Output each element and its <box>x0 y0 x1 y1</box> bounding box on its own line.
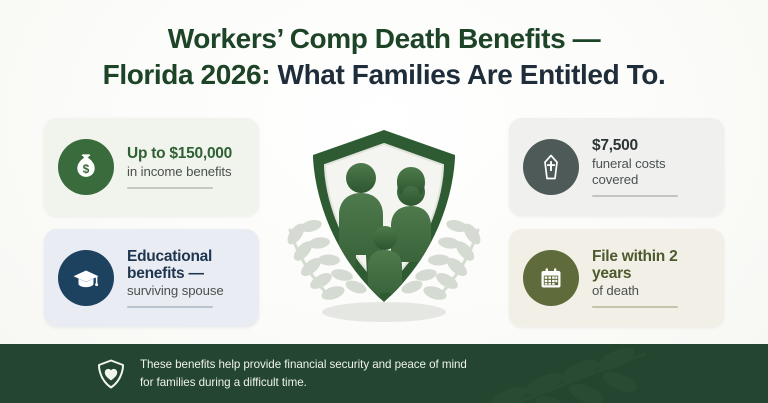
card-text-block: Up to $150,000 in income benefits <box>127 145 247 188</box>
emblem-shadow <box>322 302 446 322</box>
footer-message-line-2: for families during a difficult time. <box>140 374 467 391</box>
card-subtext: funeral costs covered <box>592 156 712 188</box>
footer-bar: These benefits help provide financial se… <box>0 344 768 403</box>
card-text-block: File within 2 years of death <box>592 248 712 309</box>
card-divider <box>592 195 678 197</box>
title-location-year: Florida 2026: <box>103 59 271 90</box>
money-bag-icon: $ <box>58 139 114 195</box>
footer-message-line-1: These benefits help provide financial se… <box>140 356 467 373</box>
benefit-card-income[interactable]: $ Up to $150,000 in income benefits <box>44 118 259 216</box>
card-headline: Educational benefits — <box>127 248 247 283</box>
card-divider <box>592 306 678 308</box>
card-headline: $7,500 <box>592 137 712 154</box>
benefit-card-funeral[interactable]: $7,500 funeral costs covered <box>509 118 724 216</box>
card-subtext: in income benefits <box>127 164 247 180</box>
title-line-2: Florida 2026: What Families Are Entitled… <box>40 58 728 92</box>
graduation-cap-icon <box>58 250 114 306</box>
title-subject: What Families Are Entitled To. <box>270 59 665 90</box>
card-text-block: Educational benefits — surviving spouse <box>127 248 247 309</box>
card-divider <box>127 306 213 308</box>
card-text-block: $7,500 funeral costs covered <box>592 137 712 196</box>
family-shield-emblem <box>259 106 509 340</box>
page-title: Workers’ Comp Death Benefits — Florida 2… <box>0 22 768 92</box>
card-divider <box>127 187 213 189</box>
footer-message: These benefits help provide financial se… <box>140 356 467 391</box>
card-subtext: of death <box>592 283 712 299</box>
shield-heart-icon <box>96 358 126 390</box>
infographic-poster: Workers’ Comp Death Benefits — Florida 2… <box>0 0 768 403</box>
card-subtext: surviving spouse <box>127 283 247 299</box>
card-headline: Up to $150,000 <box>127 145 247 162</box>
benefit-card-deadline[interactable]: File within 2 years of death <box>509 229 724 327</box>
casket-icon <box>523 139 579 195</box>
footer-leaf-decoration <box>448 344 708 403</box>
benefit-card-education[interactable]: Educational benefits — surviving spouse <box>44 229 259 327</box>
svg-text:$: $ <box>83 162 90 176</box>
card-headline: File within 2 years <box>592 248 712 283</box>
title-line-1: Workers’ Comp Death Benefits — <box>40 22 728 56</box>
calendar-icon <box>523 250 579 306</box>
